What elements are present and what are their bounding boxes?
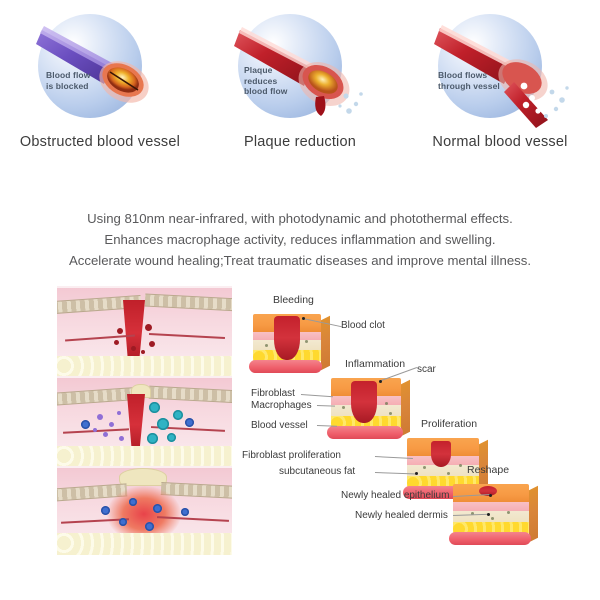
clot-particle bbox=[114, 340, 119, 345]
heal-label-blood-clot: Blood clot bbox=[341, 320, 385, 331]
cell-speck bbox=[491, 517, 494, 520]
plaque-inner-line3: blood flow bbox=[244, 86, 288, 96]
heal-block-bleeding bbox=[253, 314, 321, 366]
normal-inner-caption: Blood flows through vessel bbox=[438, 70, 500, 91]
clot-particle bbox=[131, 346, 136, 351]
description-line-1: Using 810nm near-infrared, with photodyn… bbox=[0, 208, 600, 229]
vessel-card-plaque-reduction: Plaque reduces blood flow Plaque reducti… bbox=[205, 8, 395, 150]
description-line-2: Enhances macrophage activity, reduces in… bbox=[0, 229, 600, 250]
dermis-layer bbox=[453, 502, 529, 511]
blood-vessel bbox=[449, 532, 531, 545]
cytokine-particle bbox=[103, 432, 108, 437]
wound-cavity bbox=[431, 441, 451, 467]
cell-speck bbox=[423, 466, 426, 469]
description-line-3: Accelerate wound healing;Treat traumatic… bbox=[0, 250, 600, 271]
vessel-illustration-plaque: Plaque reduces blood flow bbox=[220, 8, 380, 128]
clot-particle bbox=[145, 324, 152, 331]
normal-inner-line1: Blood flows bbox=[438, 70, 487, 80]
macrophage bbox=[101, 506, 110, 515]
heal-block-inflammation bbox=[331, 378, 401, 432]
leader-line-blood-vessel bbox=[317, 425, 337, 427]
macrophage bbox=[149, 402, 160, 413]
heal-label-newly-healed-dermis: Newly healed dermis bbox=[355, 510, 448, 521]
leader-dot bbox=[489, 494, 492, 497]
caption-obstructed: Obstructed blood vessel bbox=[20, 134, 180, 150]
leader-line-subcutaneous-fat bbox=[375, 472, 417, 474]
wound-cavity bbox=[351, 381, 377, 423]
vessel-illustration-normal: Blood flows through vessel bbox=[420, 8, 580, 128]
leader-dot bbox=[379, 380, 382, 383]
macrophage bbox=[173, 410, 183, 420]
subcutaneous-fat-layer bbox=[57, 356, 232, 376]
clot-particle bbox=[141, 350, 145, 354]
leader-dot bbox=[302, 317, 305, 320]
cell-speck bbox=[389, 412, 392, 415]
obstructed-inner-line2: is blocked bbox=[46, 81, 89, 91]
blood-vessel bbox=[249, 360, 322, 373]
obstructed-inner-line1: Blood flow bbox=[46, 70, 90, 80]
vessel-comparison-row: Blood flow is blocked Obstructed blood v… bbox=[0, 8, 600, 168]
macrophage bbox=[81, 420, 90, 429]
cytokine-particle bbox=[117, 411, 121, 415]
cell-speck bbox=[385, 402, 388, 405]
leader-dot bbox=[487, 513, 490, 516]
block-side-face bbox=[401, 380, 410, 436]
heal-label-scar: scar bbox=[417, 364, 436, 375]
obstructed-inner-caption: Blood flow is blocked bbox=[46, 70, 90, 91]
heal-title-bleeding: Bleeding bbox=[273, 294, 314, 306]
cell-speck bbox=[342, 406, 345, 409]
cell-speck bbox=[265, 344, 268, 347]
heal-label-newly-healed-epithelium: Newly healed epithelium bbox=[341, 490, 449, 501]
skin-stage-injury bbox=[57, 288, 232, 376]
normal-inner-line2: through vessel bbox=[438, 81, 500, 91]
heal-title-inflammation: Inflammation bbox=[345, 358, 405, 370]
heal-label-subcutaneous-fat: subcutaneous fat bbox=[279, 466, 355, 477]
macrophage bbox=[129, 498, 137, 506]
heal-label-fibroblast: Fibroblast bbox=[251, 388, 295, 399]
wound-cavity bbox=[274, 316, 300, 360]
macrophage bbox=[145, 522, 154, 531]
skin-cross-section-panel bbox=[57, 286, 232, 555]
heal-label-macrophages: Macrophages bbox=[251, 400, 312, 411]
macrophage bbox=[157, 418, 169, 430]
heal-label-blood-vessel: Blood vessel bbox=[251, 420, 308, 431]
cytokine-particle bbox=[93, 428, 97, 432]
plaque-inner-caption: Plaque reduces blood flow bbox=[244, 65, 288, 97]
heal-title-reshape: Reshape bbox=[467, 464, 509, 476]
leader-line-fibroblast bbox=[301, 394, 333, 397]
obstructed-vessel-svg bbox=[20, 8, 180, 128]
macrophage bbox=[119, 518, 127, 526]
heal-label-fibroblast-proliferation: Fibroblast proliferation bbox=[242, 450, 341, 461]
heal-title-proliferation: Proliferation bbox=[421, 418, 477, 430]
plaque-inner-line2: reduces bbox=[244, 76, 277, 86]
subcutaneous-fat-layer bbox=[57, 533, 232, 555]
macrophage bbox=[153, 504, 162, 513]
cytokine-particle bbox=[119, 436, 124, 441]
caption-plaque-reduction: Plaque reduction bbox=[244, 134, 356, 150]
heal-block-reshape bbox=[453, 484, 529, 538]
plaque-inner-line1: Plaque bbox=[244, 65, 272, 75]
cytokine-particle bbox=[109, 422, 114, 427]
vessel-card-normal: Blood flows through vessel Normal blood … bbox=[405, 8, 595, 150]
cell-speck bbox=[459, 464, 462, 467]
cell-speck bbox=[447, 472, 450, 475]
caption-normal: Normal blood vessel bbox=[432, 134, 567, 150]
subcutaneous-fat-layer bbox=[57, 446, 232, 466]
skin-stage-inflammation bbox=[57, 378, 232, 466]
macrophage bbox=[167, 433, 176, 442]
vessel-card-obstructed: Blood flow is blocked Obstructed blood v… bbox=[5, 8, 195, 150]
leader-dot bbox=[415, 472, 418, 475]
macrophage bbox=[181, 508, 189, 516]
description-text: Using 810nm near-infrared, with photodyn… bbox=[0, 208, 600, 271]
normal-vessel-svg bbox=[420, 8, 580, 128]
vessel-illustration-obstructed: Blood flow is blocked bbox=[20, 8, 180, 128]
clot-particle bbox=[117, 328, 123, 334]
cytokine-particle bbox=[97, 414, 103, 420]
macrophage bbox=[185, 418, 194, 427]
cell-speck bbox=[305, 340, 308, 343]
leader-line-macrophages bbox=[317, 405, 335, 407]
fat-layer bbox=[453, 522, 529, 533]
block-side-face bbox=[529, 486, 538, 542]
macrophage bbox=[147, 433, 158, 444]
clot-particle bbox=[149, 341, 155, 347]
skin-stage-repair bbox=[57, 468, 232, 555]
cell-speck bbox=[507, 511, 510, 514]
wound-healing-panel: Bleeding Blood clot Inflammation scar Fi… bbox=[245, 286, 551, 555]
blood-vessel bbox=[327, 426, 403, 439]
